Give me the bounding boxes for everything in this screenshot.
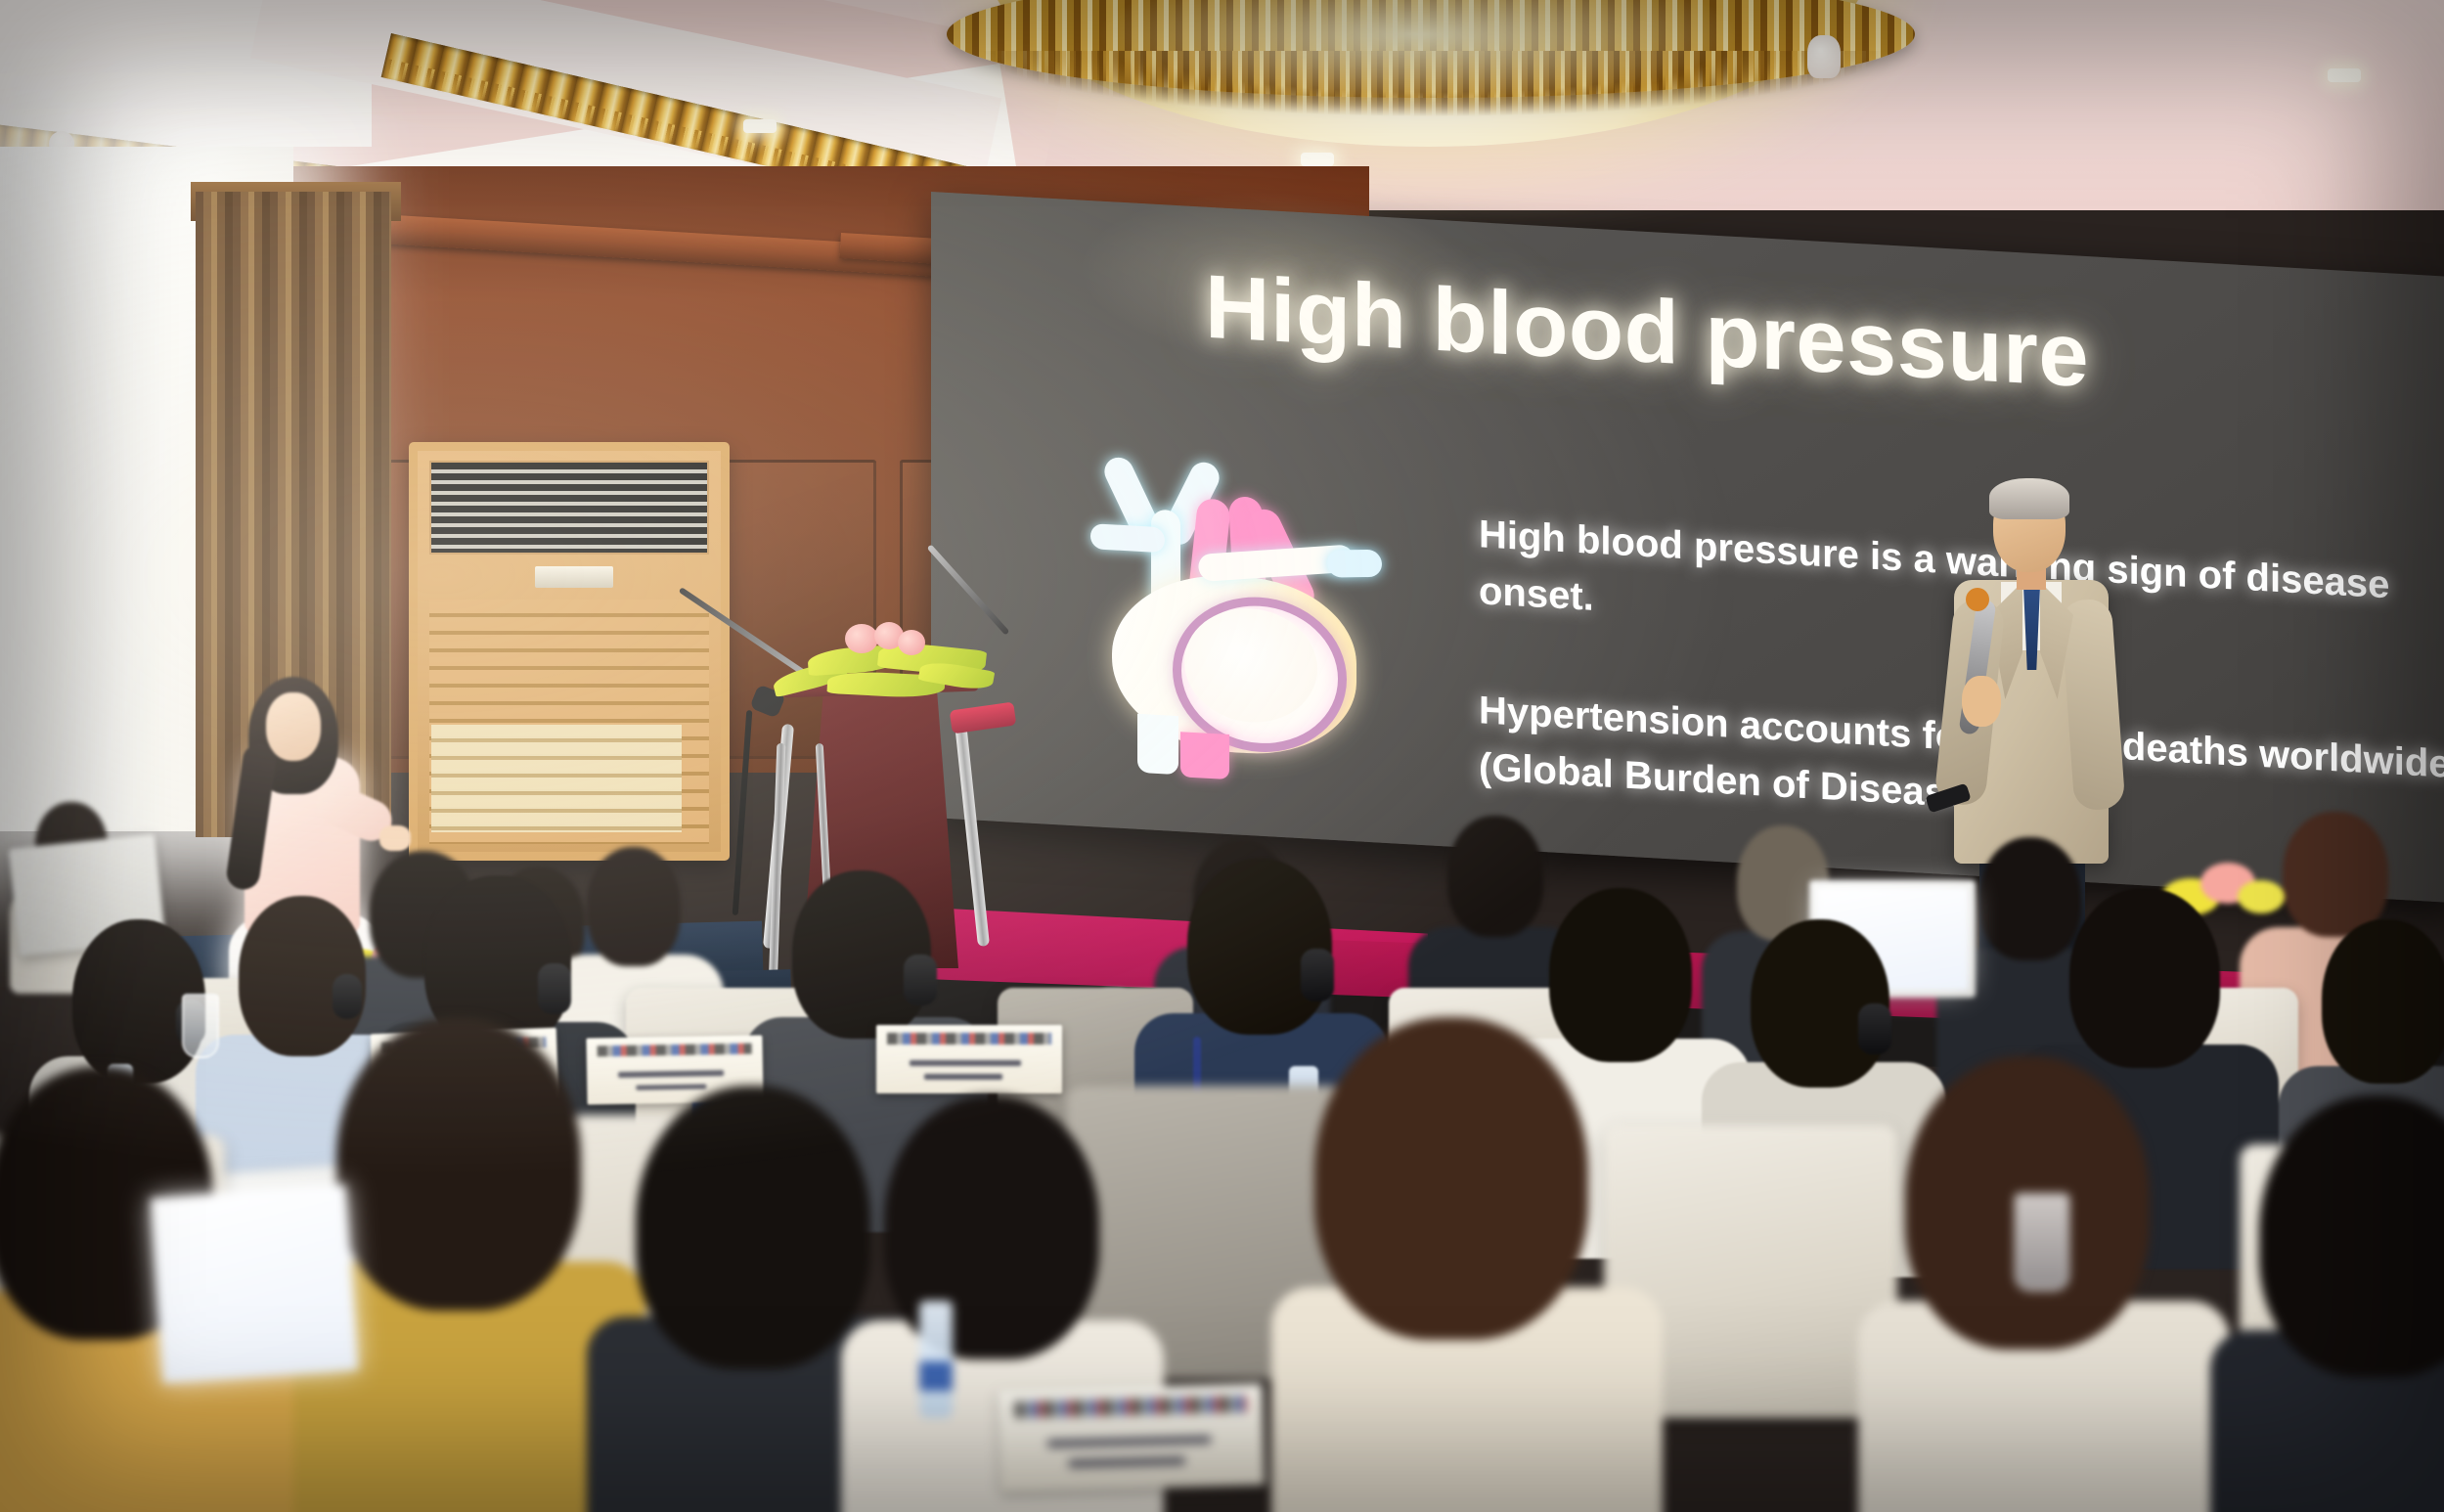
person-head xyxy=(636,1086,870,1369)
microphone-windscreen xyxy=(1966,588,1989,611)
water-glass-front xyxy=(2015,1193,2069,1291)
person-head xyxy=(1187,859,1332,1035)
heart-vessel-cyan-arm xyxy=(1090,523,1165,553)
person-head xyxy=(2069,888,2220,1068)
person-head xyxy=(2259,1095,2444,1377)
laptop-screen-front xyxy=(151,1184,359,1383)
ceiling-spotlight-2 xyxy=(1301,153,1334,166)
projection-screen: High blood pressure High blood pressure … xyxy=(931,192,2444,903)
ac-louvers-lit xyxy=(431,725,682,832)
name-card-text-line-1 xyxy=(1047,1436,1212,1448)
person-head xyxy=(792,870,931,1039)
heart-vessel-white-bottom xyxy=(1137,714,1178,775)
name-card-header-strip xyxy=(1014,1396,1247,1418)
translation-headset xyxy=(1858,1003,1891,1054)
name-card-text-line-2 xyxy=(924,1074,1002,1080)
smoke-detector-2 xyxy=(1807,35,1841,78)
name-card-header-strip xyxy=(597,1044,752,1057)
translation-headset xyxy=(538,963,571,1014)
person-head-brown-hair xyxy=(1314,1017,1588,1340)
podium-flower-arrangement xyxy=(773,622,998,712)
ac-vent-grille xyxy=(429,461,709,555)
delegate-name-card-front xyxy=(999,1383,1266,1491)
translation-headset xyxy=(1301,949,1334,1001)
slide-title: High blood pressure xyxy=(1205,256,2378,424)
person-head xyxy=(336,1017,581,1311)
delegate-name-card-3 xyxy=(876,1025,1062,1093)
audience-person-front-5 xyxy=(1271,1017,1623,1512)
conference-photo-scene: High blood pressure High blood pressure … xyxy=(0,0,2444,1512)
water-glass-1 xyxy=(182,994,219,1058)
name-card-header-strip xyxy=(887,1033,1050,1044)
audience-person-front-7 xyxy=(2210,1095,2444,1512)
flower-pink-1 xyxy=(845,624,878,653)
heart-vessel-cyan-cap xyxy=(1326,550,1383,578)
person-head xyxy=(884,1095,1099,1359)
presenter-hair xyxy=(1989,478,2069,519)
slide-content: High blood pressure High blood pressure … xyxy=(931,192,2444,903)
translation-headset xyxy=(333,974,362,1019)
name-card-text-line-2 xyxy=(1069,1456,1185,1467)
person-head xyxy=(2322,919,2444,1084)
bottle-label xyxy=(919,1361,953,1391)
flower-pink-3 xyxy=(898,630,925,655)
heart-vessel-pink-bottom xyxy=(1180,732,1229,779)
name-card-text-line-1 xyxy=(618,1070,724,1077)
presenter-hand-left xyxy=(1962,676,2001,727)
ceiling-spotlight-1 xyxy=(743,119,777,133)
floor-standing-ac-unit xyxy=(409,442,730,861)
anatomical-heart-icon xyxy=(1083,445,1376,775)
name-card-text-line-1 xyxy=(910,1060,1021,1066)
translation-headset xyxy=(904,955,937,1005)
hostess-head xyxy=(266,692,321,761)
water-bottle-front-1 xyxy=(919,1301,953,1418)
ac-brand-badge xyxy=(535,566,613,588)
ceiling-spotlight-3 xyxy=(2328,68,2361,82)
